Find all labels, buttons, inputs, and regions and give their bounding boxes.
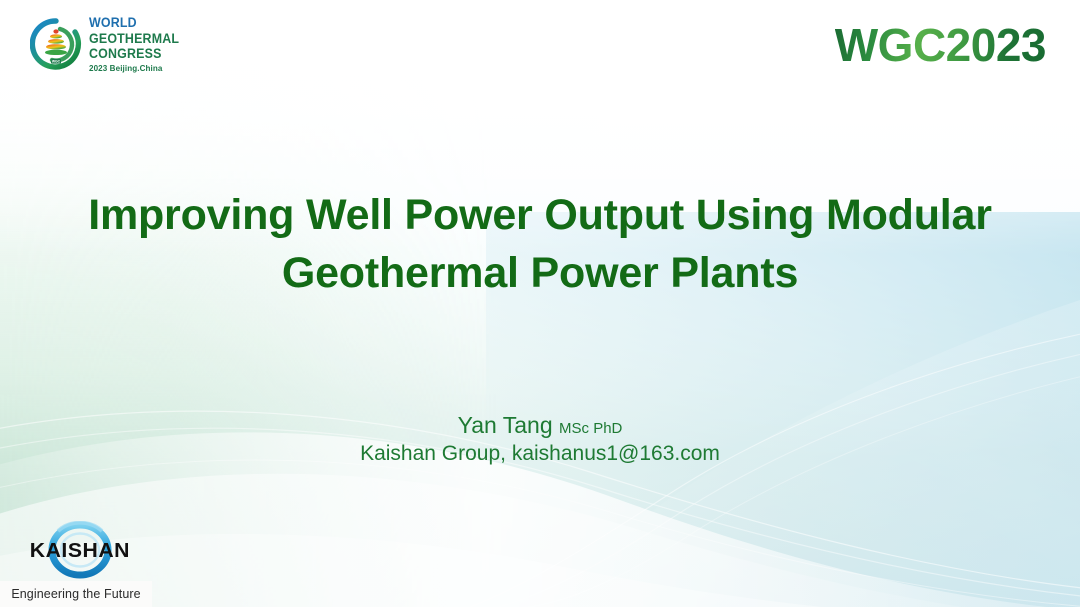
kaishan-tagline: Engineering the Future bbox=[11, 587, 140, 601]
svg-text:KAISHAN: KAISHAN bbox=[30, 540, 130, 562]
author-name: Yan Tang bbox=[458, 412, 553, 438]
kaishan-emblem-icon: KAISHAN bbox=[18, 521, 142, 581]
slide-header: WGC WORLD GEOTHERMAL CONGRESS 2023 Beiji… bbox=[0, 0, 1080, 96]
title-line-2: Geothermal Power Plants bbox=[24, 244, 1056, 302]
wgc-congress-logo: WGC WORLD GEOTHERMAL CONGRESS 2023 Beiji… bbox=[30, 16, 187, 72]
wgc-word-congress: CONGRESS bbox=[89, 47, 179, 61]
wgc-circular-emblem-icon: WGC bbox=[30, 18, 82, 70]
author-affiliation: Kaishan Group, kaishanus1@163.com bbox=[0, 440, 1080, 468]
wgc-wordmark: WORLD GEOTHERMAL CONGRESS 2023 Beijing.C… bbox=[89, 16, 187, 72]
title-line-1: Improving Well Power Output Using Modula… bbox=[24, 186, 1056, 244]
author-degrees: MSc PhD bbox=[559, 420, 622, 437]
kaishan-tagline-banner: Engineering the Future bbox=[0, 581, 152, 607]
wgc-logo-subtitle: 2023 Beijing.China bbox=[89, 64, 182, 73]
wgc-word-geothermal: GEOTHERMAL bbox=[89, 32, 179, 46]
presentation-slide: WGC WORLD GEOTHERMAL CONGRESS 2023 Beiji… bbox=[0, 0, 1080, 607]
kaishan-logo: KAISHAN Engineering the Future bbox=[0, 519, 166, 607]
svg-text:WGC: WGC bbox=[52, 60, 61, 64]
wgc-brand-title: WGC2023 bbox=[835, 18, 1046, 72]
author-name-line: Yan Tang MSc PhD bbox=[0, 410, 1080, 440]
slide-title: Improving Well Power Output Using Modula… bbox=[0, 186, 1080, 302]
wgc-word-world: WORLD bbox=[89, 16, 179, 30]
author-block: Yan Tang MSc PhD Kaishan Group, kaishanu… bbox=[0, 410, 1080, 468]
